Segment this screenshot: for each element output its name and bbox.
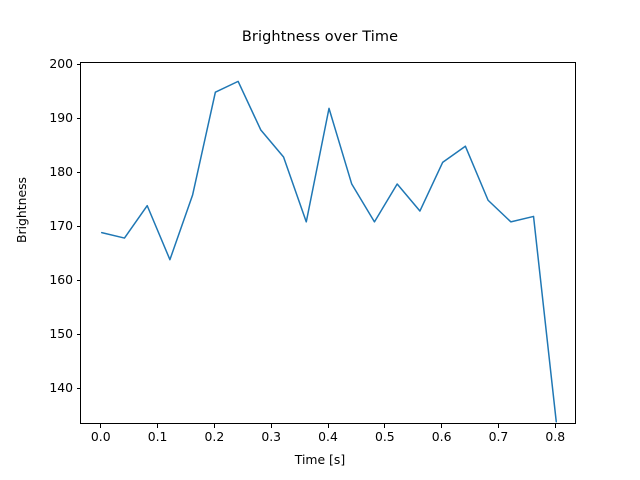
plot-area (80, 62, 576, 424)
y-tick-label: 140 (33, 382, 73, 394)
x-tick-label: 0.4 (303, 431, 353, 443)
y-axis-label: Brightness (14, 177, 29, 243)
brightness-line (102, 81, 557, 421)
x-tick-label: 0.2 (189, 431, 239, 443)
y-tick-label: 160 (33, 274, 73, 286)
x-tick-label: 0.1 (133, 431, 183, 443)
x-tick-label: 0.3 (246, 431, 296, 443)
figure-canvas: Brightness over Time 1401501601701801902… (0, 0, 640, 480)
x-tick-label: 0.6 (417, 431, 467, 443)
data-line-series (81, 63, 577, 425)
y-tick-label: 150 (33, 328, 73, 340)
x-tick-label: 0.7 (473, 431, 523, 443)
x-tick-label: 0.0 (76, 431, 126, 443)
y-tick-label: 180 (33, 166, 73, 178)
y-tick-label: 200 (33, 58, 73, 70)
x-tick-label: 0.5 (360, 431, 410, 443)
x-axis-label: Time [s] (0, 452, 640, 467)
x-tick-label: 0.8 (530, 431, 580, 443)
y-tick-label: 190 (33, 112, 73, 124)
y-tick-label: 170 (33, 220, 73, 232)
chart-title: Brightness over Time (0, 29, 640, 45)
